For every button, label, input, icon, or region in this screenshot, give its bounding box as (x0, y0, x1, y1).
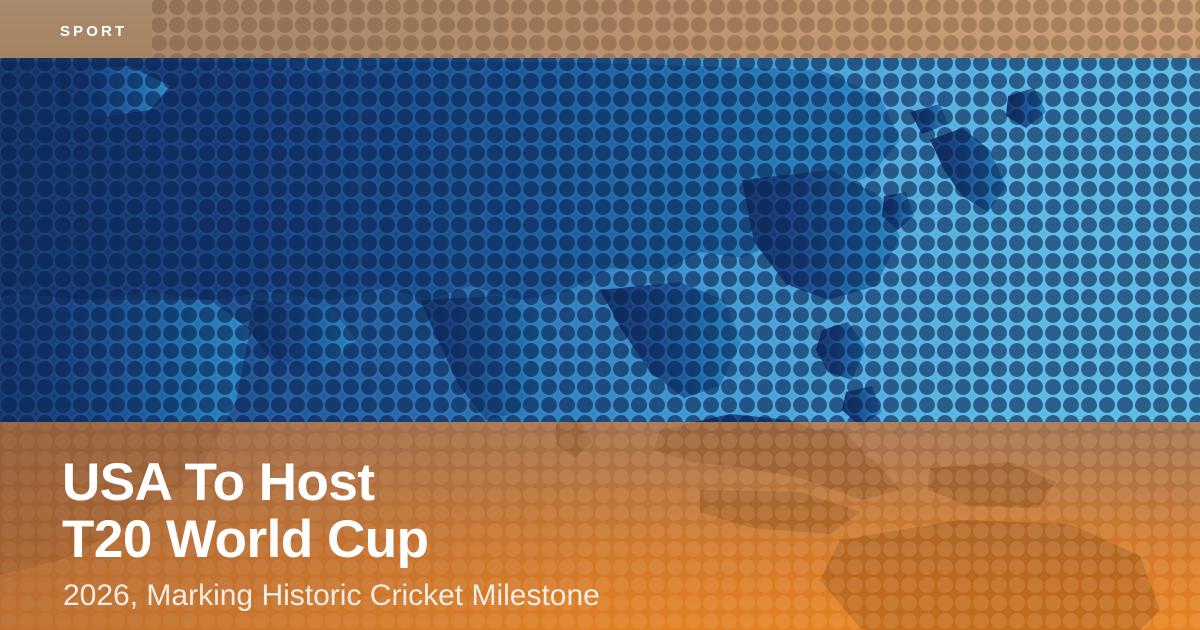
headline-line-2: T20 World Cup (62, 511, 428, 568)
category-kicker: SPORT (60, 24, 127, 39)
top-band-dot-grid (0, 0, 1200, 58)
page-subtitle: 2026, Marking Historic Cricket Milestone (63, 579, 600, 613)
page-title: USA To Host T20 World Cup (62, 454, 428, 568)
top-tan-band (0, 0, 1200, 58)
social-share-card: SPORT USA To Host T20 World Cup 2026, Ma… (0, 0, 1200, 630)
headline-line-1: USA To Host (62, 454, 428, 511)
